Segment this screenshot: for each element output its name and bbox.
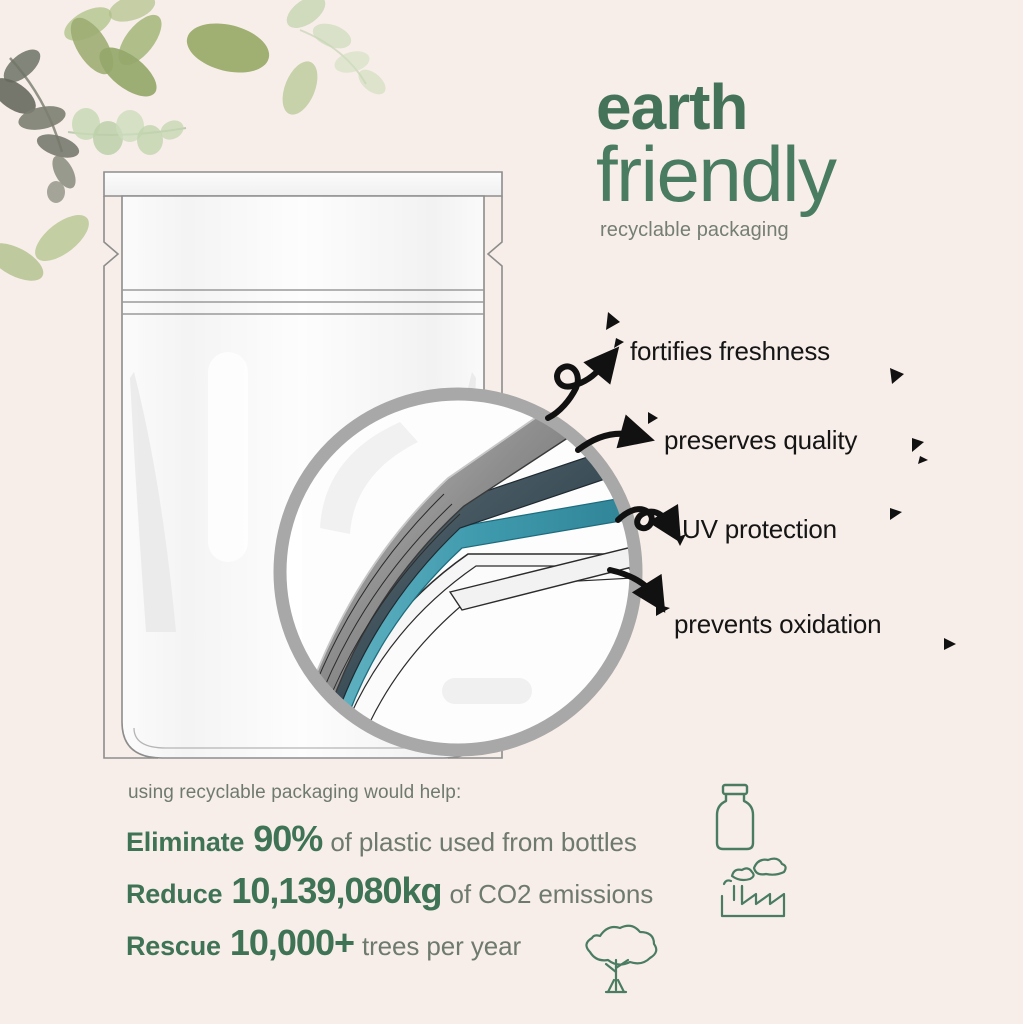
leaf-icon [0,236,49,289]
stat-tail-rescue: trees per year [362,931,521,962]
leaf-icon [16,102,68,133]
branch-stem [10,58,62,152]
leaf-icon [72,108,100,140]
stat-row-reduce: Reduce 10,139,080kg of CO2 emissions [126,870,886,912]
headline-earth: earth [596,78,1016,137]
spark-accent [918,456,928,464]
pouch-top-seal [104,172,502,196]
leaf-icon [137,125,163,155]
leaf-icon [105,0,158,27]
magnified-film-layers [262,378,662,770]
stat-verb-reduce: Reduce [126,879,222,910]
leaf-icon [182,16,275,81]
stat-verb-eliminate: Eliminate [126,827,244,858]
feature-label-uv-protection: UV protection [682,514,837,545]
leaf-icon [28,206,97,269]
leaf-bud-icon [47,181,65,203]
stat-tail-eliminate: of plastic used from bottles [330,827,636,858]
spark-accent [614,338,624,348]
leaf-icon [309,19,354,53]
leaf-icon [48,152,81,192]
leaf-icon [34,130,82,163]
stats-intro: using recyclable packaging would help: [128,782,886,804]
stat-tail-reduce: of CO2 emissions [450,879,654,910]
leaf-icon [62,11,121,81]
leaf-icon [116,110,144,142]
stat-number-rescue: 10,000+ [230,922,354,964]
leaf-icon [91,38,164,105]
spark-accent [912,438,924,452]
branch-stem [68,128,186,135]
stats-block: using recyclable packaging would help: E… [126,782,886,974]
leaf-icon [93,121,123,155]
headline-block: earth friendly recyclable packaging [596,78,1016,242]
spark-accent [944,638,956,650]
spark-accent [890,508,902,520]
stat-number-reduce: 10,139,080kg [231,870,441,912]
spark-accent [890,368,904,384]
stat-row-eliminate: Eliminate 90% of plastic used from bottl… [126,818,886,860]
headline-subtitle: recyclable packaging [600,219,1016,242]
leaf-icon [0,71,42,121]
infographic-canvas: earth friendly recyclable packaging fort… [0,0,1023,1024]
spark-accent [606,312,620,330]
leaf-icon [110,8,169,73]
leaf-icon [59,0,117,47]
leaf-icon [157,117,186,143]
feature-label-fortifies-freshness: fortifies freshness [630,336,830,367]
feature-label-prevents-oxidation: prevents oxidation [674,609,881,640]
feature-label-preserves-quality: preserves quality [664,425,857,456]
leaf-icon [354,65,390,99]
pouch-highlight [208,352,248,562]
headline-friendly: friendly [596,137,1016,211]
leaf-icon [332,48,372,77]
leaf-icon [0,43,46,88]
branch-stem [300,30,366,84]
lens-highlight [442,678,532,704]
leaf-icon [276,56,325,119]
stat-number-eliminate: 90% [253,818,322,860]
stat-verb-rescue: Rescue [126,931,221,962]
stat-row-rescue: Rescue 10,000+ trees per year [126,922,886,964]
leaf-icon [281,0,331,34]
